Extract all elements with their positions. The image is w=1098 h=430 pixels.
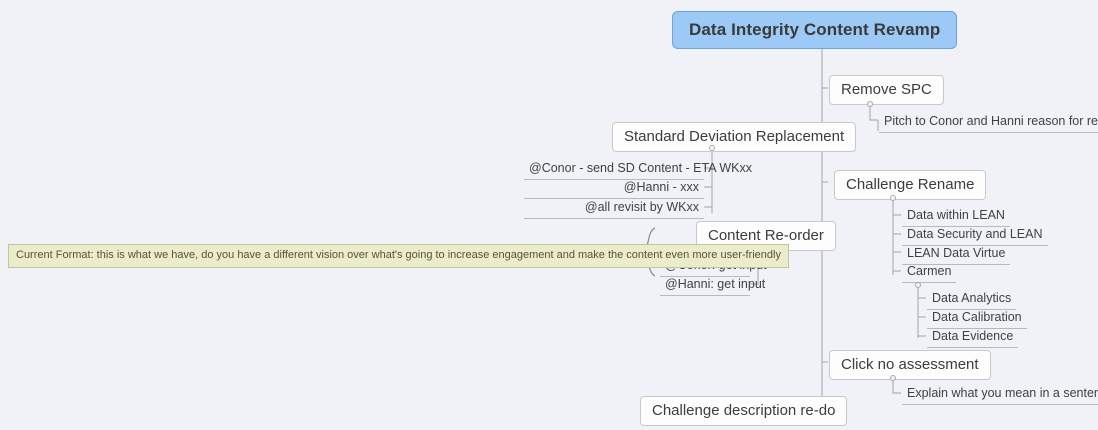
leaf-hanni-xxx[interactable]: @Hanni - xxx	[524, 178, 704, 199]
collapse-toggle-remove-spc[interactable]	[867, 101, 873, 107]
branch-standard-deviation-replacement[interactable]: Standard Deviation Replacement	[612, 122, 856, 152]
branch-click-no-assessment[interactable]: Click no assessment	[829, 350, 991, 380]
leaf-data-analytics[interactable]: Data Analytics	[927, 289, 1016, 310]
mindmap-canvas: Data Integrity Content Revamp Remove SPC…	[0, 0, 1098, 430]
leaf-data-evidence[interactable]: Data Evidence	[927, 327, 1018, 348]
leaf-data-within-lean[interactable]: Data within LEAN	[902, 206, 1010, 227]
leaf-all-revisit-by-wkxx[interactable]: @all revisit by WKxx	[524, 198, 704, 219]
root-node[interactable]: Data Integrity Content Revamp	[672, 11, 957, 49]
note-current-format[interactable]: Current Format: this is what we have, do…	[8, 244, 789, 268]
leaf-data-calibration[interactable]: Data Calibration	[927, 308, 1027, 329]
leaf-pitch-to-conor-and-hanni[interactable]: Pitch to Conor and Hanni reason for remo…	[879, 112, 1098, 133]
leaf-hanni-get-input[interactable]: @Hanni: get input	[660, 275, 750, 296]
branch-challenge-rename[interactable]: Challenge Rename	[834, 170, 986, 200]
collapse-toggle-click-no-assessment[interactable]	[890, 375, 896, 381]
branch-challenge-description-re-do[interactable]: Challenge description re-do	[640, 396, 847, 426]
leaf-explain-what-you-mean[interactable]: Explain what you mean in a sentence or 2	[902, 384, 1098, 405]
collapse-toggle-challenge-rename[interactable]	[890, 195, 896, 201]
branch-remove-spc[interactable]: Remove SPC	[829, 75, 944, 105]
collapse-toggle-standard-deviation-replacement[interactable]	[709, 145, 715, 151]
leaf-data-security-and-lean[interactable]: Data Security and LEAN	[902, 225, 1048, 246]
collapse-toggle-carmen[interactable]	[915, 282, 921, 288]
leaf-carmen[interactable]: Carmen	[902, 262, 956, 283]
leaf-conor-send-sd-content[interactable]: @Conor - send SD Content - ETA WKxx	[524, 159, 704, 180]
